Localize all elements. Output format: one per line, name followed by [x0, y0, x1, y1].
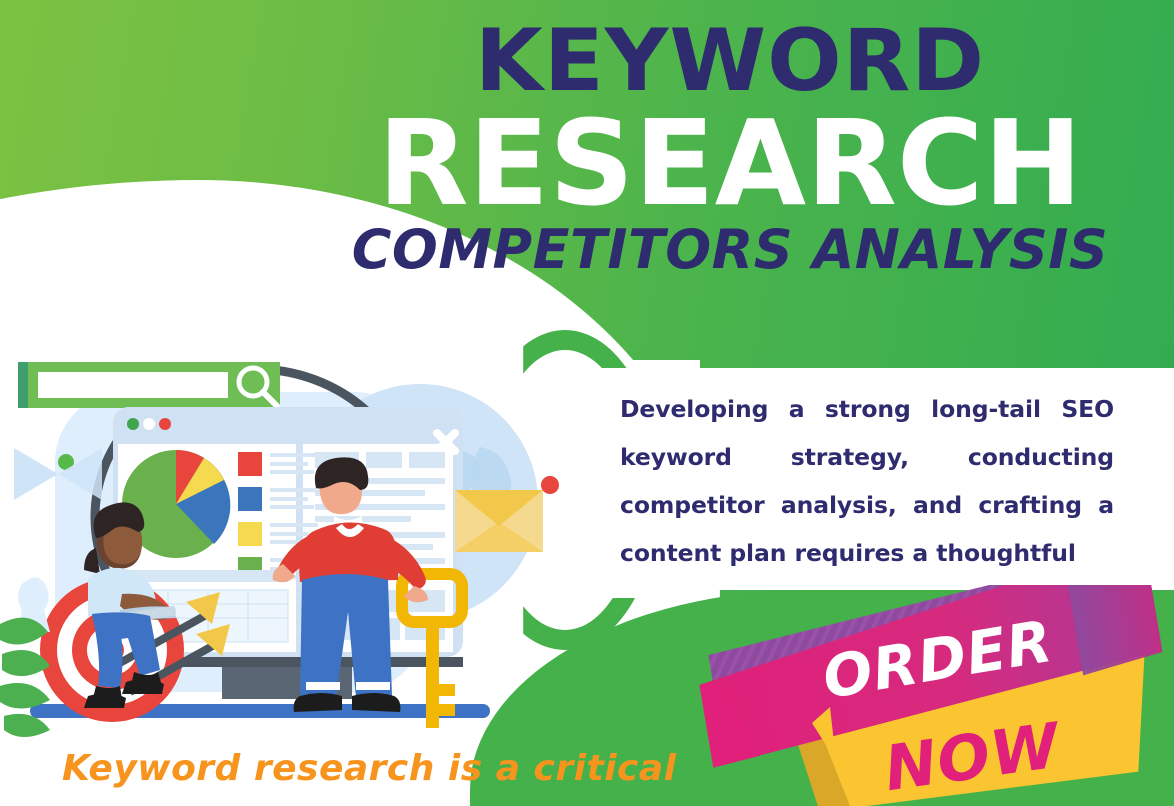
hero-illustration [0, 352, 600, 752]
plant-icon [0, 618, 50, 737]
title-line-subtitle: COMPETITORS ANALYSIS [330, 223, 1130, 277]
title-line-keyword: KEYWORD [322, 20, 1138, 103]
search-bar [18, 362, 280, 408]
tagline-text: Keyword research is a critical [62, 748, 677, 789]
title-line-research: RESEARCH [330, 109, 1130, 218]
body-paragraph: Developing a strong long-tail SEO keywor… [620, 385, 1114, 577]
page-title: KEYWORD RESEARCH COMPETITORS ANALYSIS [330, 20, 1130, 277]
poster-canvas: KEYWORD RESEARCH COMPETITORS ANALYSIS De… [0, 0, 1174, 806]
order-now-badge[interactable]: ORDER NOW [690, 585, 1174, 806]
